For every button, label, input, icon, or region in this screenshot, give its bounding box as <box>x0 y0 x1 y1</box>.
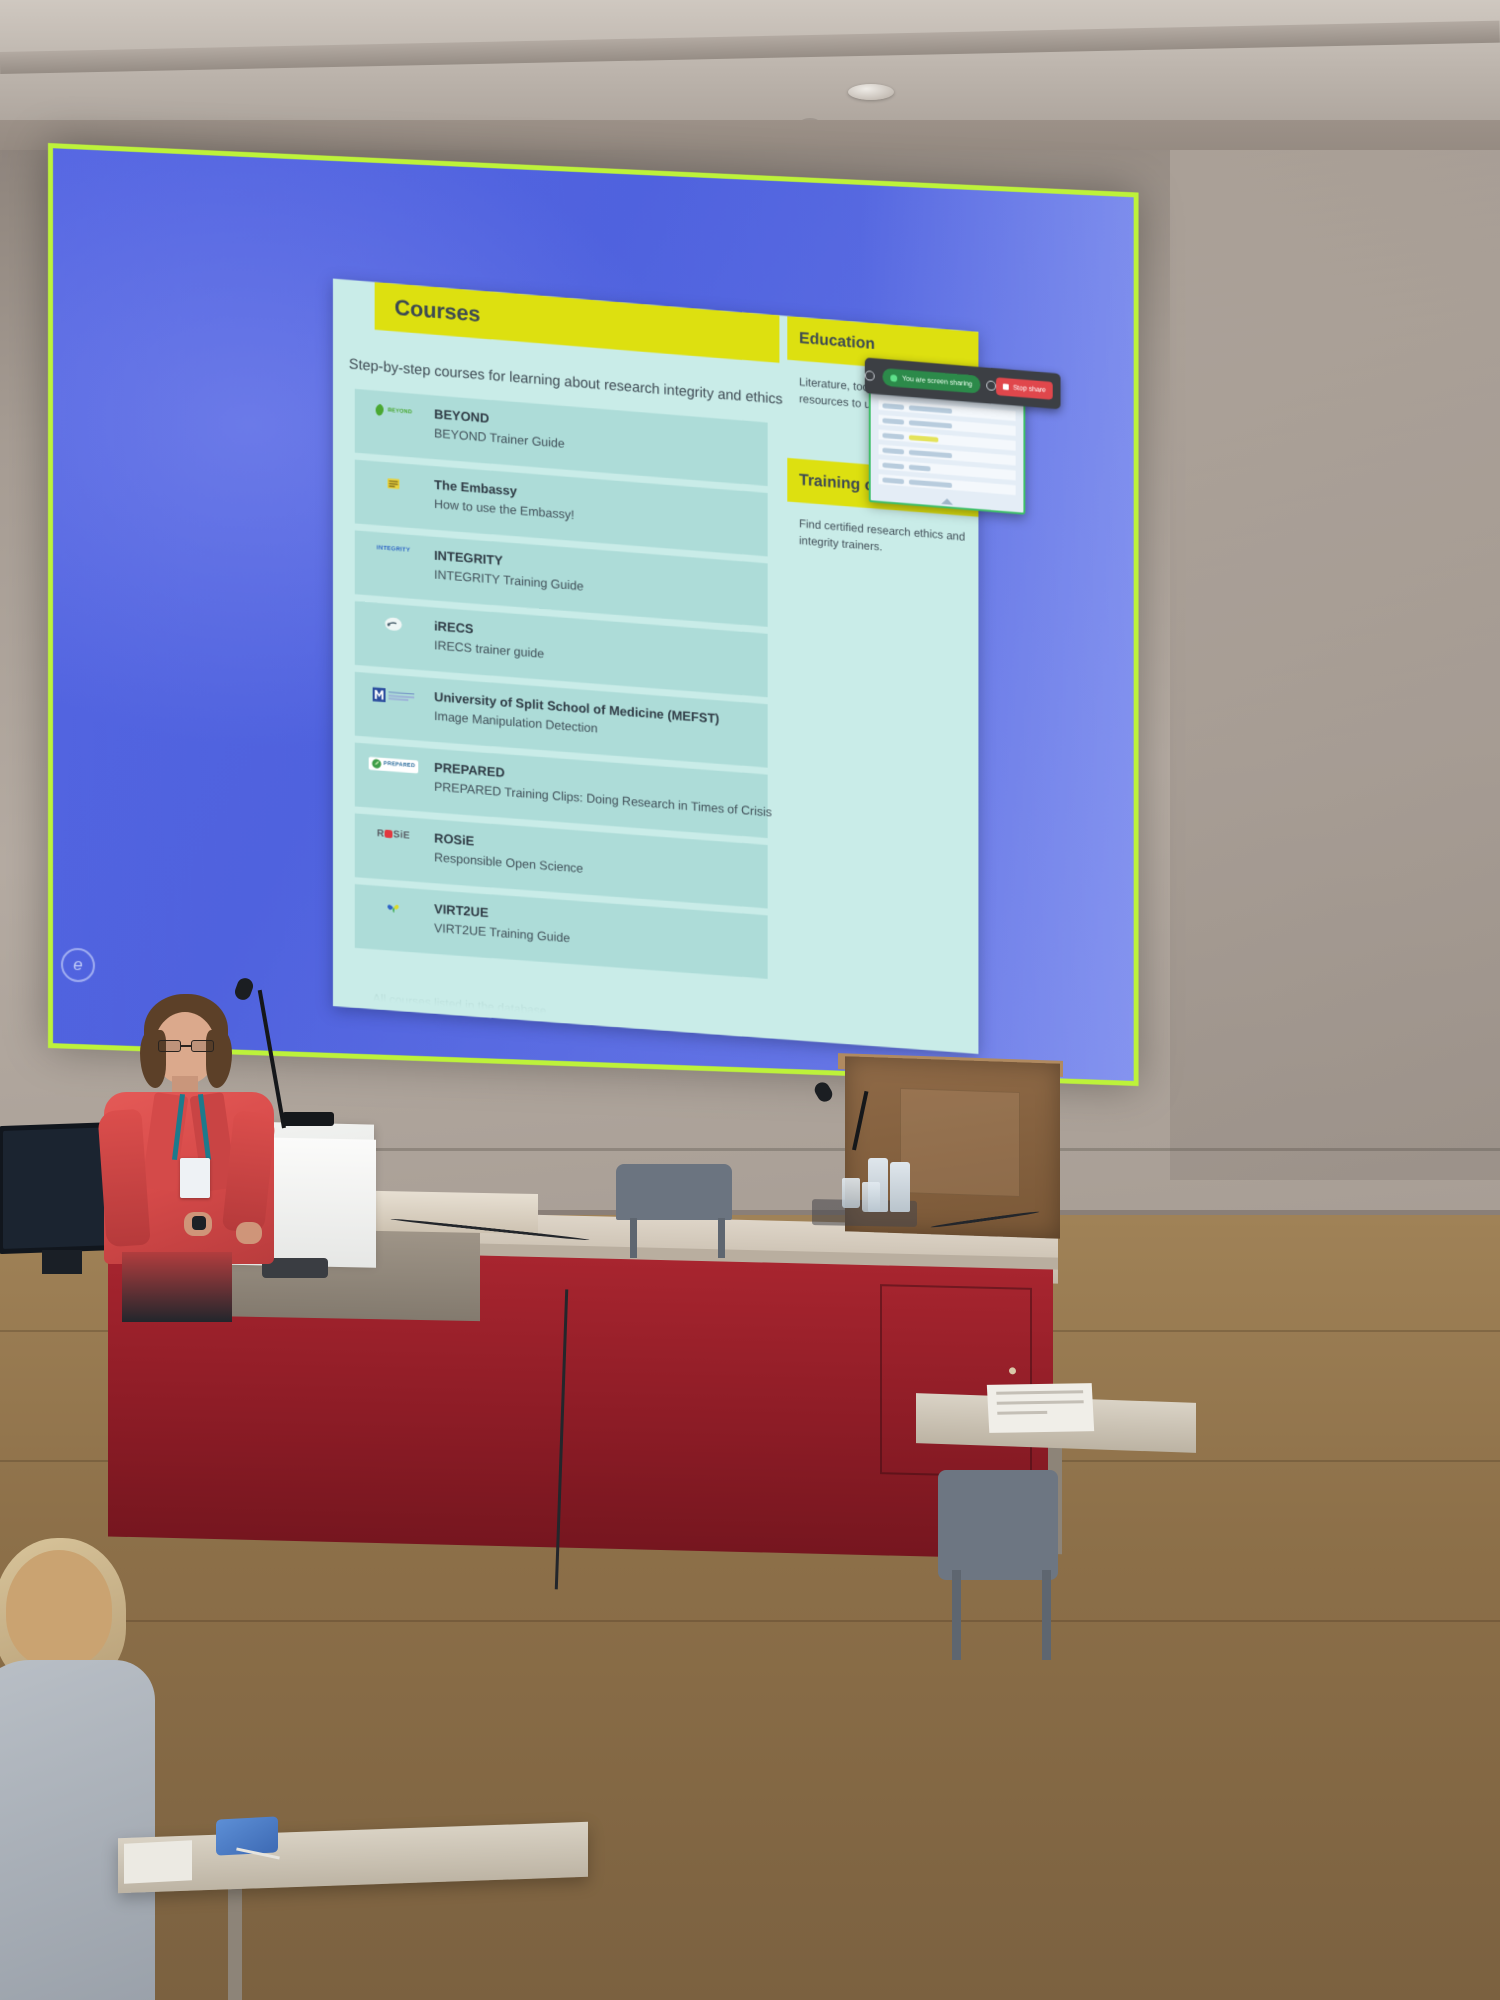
foreground-desk-leg <box>228 1882 242 2000</box>
courses-list: BEYOND BEYOND BEYOND Trainer Guide <box>333 387 779 980</box>
drinking-glass <box>862 1182 880 1212</box>
lectern-panel <box>900 1088 1020 1197</box>
chevron-up-icon[interactable] <box>941 498 953 505</box>
monitor-stand <box>42 1250 82 1274</box>
lecture-hall-scene: e Courses Step-by-step courses for learn… <box>0 0 1500 2000</box>
logo-wordmark: INTEGRITY <box>377 545 411 554</box>
foreground-paper <box>124 1840 192 1884</box>
hand-right <box>236 1222 262 1244</box>
stage-cabinet <box>880 1284 1032 1478</box>
name-badge <box>180 1158 210 1198</box>
paper-sheet <box>987 1383 1094 1433</box>
sharing-status-label: You are screen sharing <box>902 375 972 388</box>
cabinet-knob-icon <box>1009 1367 1016 1374</box>
presentation-clicker[interactable] <box>192 1216 206 1230</box>
logo-wordmark: PREPARED <box>384 761 415 769</box>
presenter-person <box>96 990 286 1290</box>
courses-column: Courses Step-by-step courses for learnin… <box>333 279 779 1040</box>
hair-side-left <box>140 1030 166 1088</box>
sharing-status-pill: You are screen sharing <box>882 368 980 394</box>
arm-left <box>97 1109 150 1248</box>
ceiling-vent-icon <box>848 84 894 100</box>
stop-share-label: Stop share <box>1013 384 1046 394</box>
rosie-wordmark-icon: RSiE <box>363 823 424 843</box>
integrity-wordmark-icon: INTEGRITY <box>363 540 424 555</box>
audience-head <box>6 1550 112 1668</box>
chair-backrest <box>616 1164 732 1220</box>
virt2ue-butterfly-icon <box>363 894 424 918</box>
background-chair <box>938 1470 1058 1580</box>
logo-wordmark: BEYOND <box>388 408 413 416</box>
projection-screen: e Courses Step-by-step courses for learn… <box>48 143 1139 1086</box>
stop-square-icon <box>1003 384 1009 390</box>
watermark-logo: e <box>61 947 95 982</box>
audience-body <box>0 1660 155 2000</box>
water-bottle <box>890 1162 910 1212</box>
pause-icon[interactable] <box>986 380 996 391</box>
glasses-icon <box>158 1040 214 1052</box>
right-wall-panel <box>1170 150 1500 1180</box>
stop-share-button[interactable]: Stop share <box>996 377 1053 399</box>
education-header-title: Education <box>799 330 875 354</box>
drinking-glass <box>842 1178 860 1208</box>
community-body-text: Find certified research ethics and integ… <box>787 501 978 584</box>
lower-body <box>122 1252 232 1322</box>
courses-header-title: Courses <box>394 295 480 328</box>
microphone-base <box>282 1112 334 1126</box>
irecs-circle-icon <box>363 611 424 634</box>
mefst-monogram-icon <box>363 681 424 706</box>
prepared-leaf-icon: PREPARED <box>363 752 424 774</box>
recording-dot-icon <box>890 374 897 381</box>
share-screen-icon[interactable] <box>865 370 875 381</box>
embassy-book-icon <box>363 469 424 494</box>
hair-side-right <box>206 1030 232 1088</box>
beyond-leaf-icon: BEYOND <box>363 398 424 420</box>
